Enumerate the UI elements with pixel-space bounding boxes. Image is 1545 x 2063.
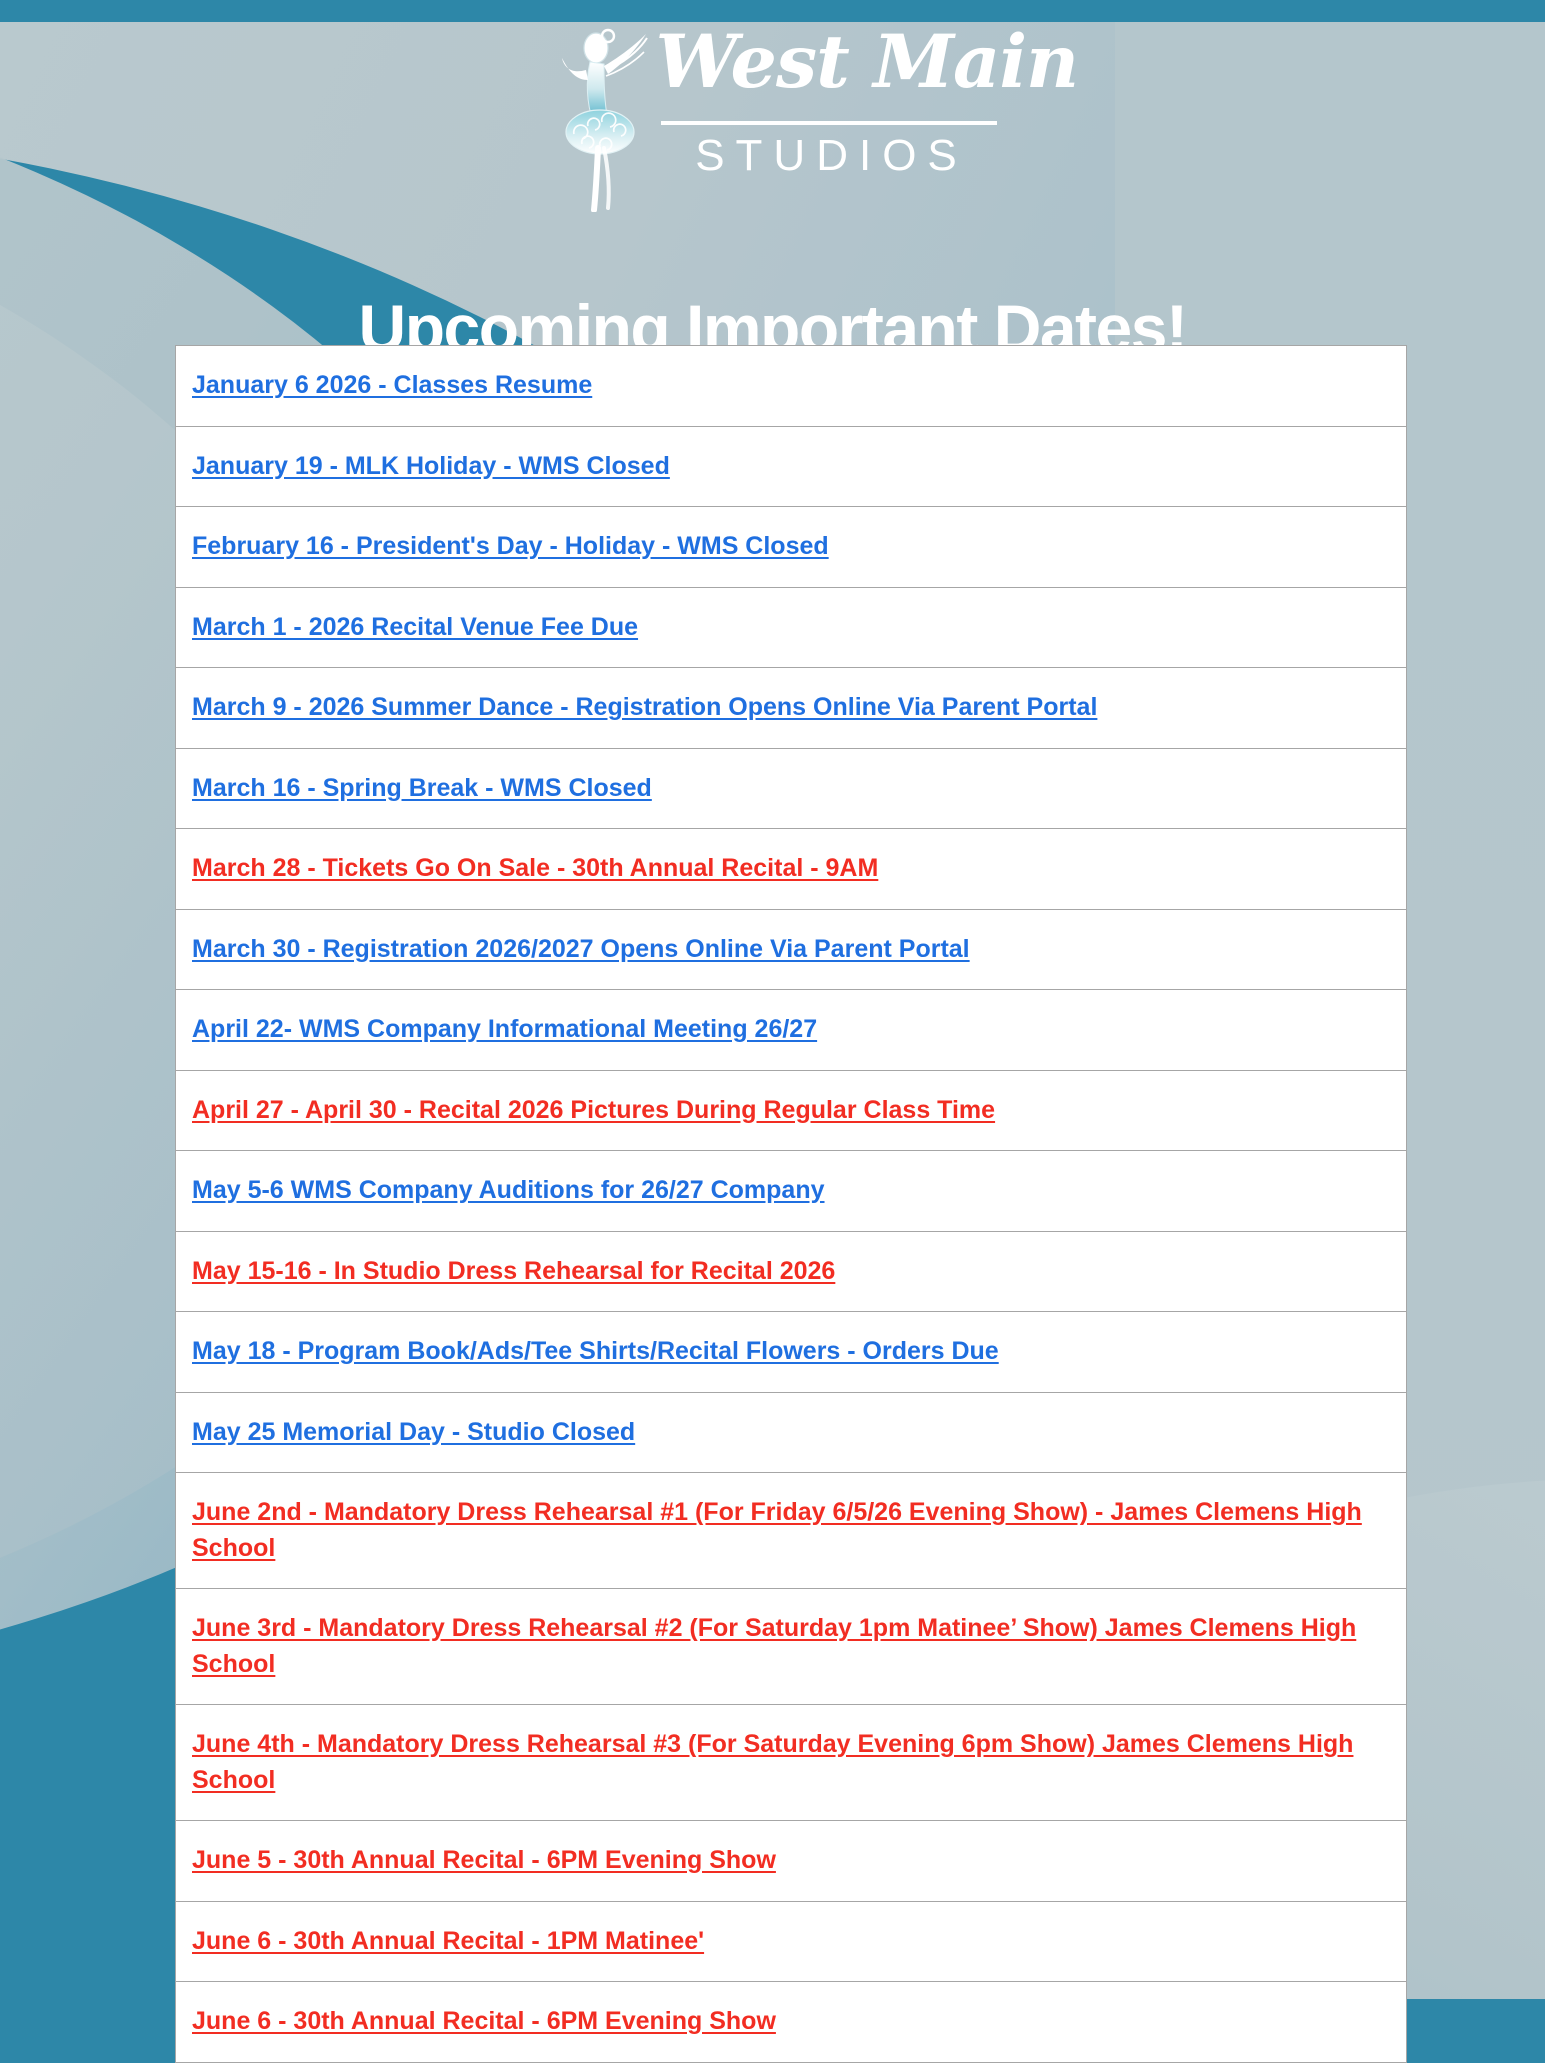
table-row: April 22- WMS Company Informational Meet… (176, 990, 1406, 1071)
date-link[interactable]: March 30 - Registration 2026/2027 Opens … (192, 935, 970, 963)
table-row: May 25 Memorial Day - Studio Closed (176, 1393, 1406, 1474)
date-link[interactable]: June 6 - 30th Annual Recital - 1PM Matin… (192, 1927, 704, 1955)
table-row: June 6 - 30th Annual Recital - 6PM Eveni… (176, 1982, 1406, 2062)
table-row: March 28 - Tickets Go On Sale - 30th Ann… (176, 829, 1406, 910)
date-link[interactable]: March 16 - Spring Break - WMS Closed (192, 774, 652, 802)
logo-inner: West Main STUDIOS (538, 14, 1008, 209)
table-row: March 9 - 2026 Summer Dance - Registrati… (176, 668, 1406, 749)
date-link[interactable]: May 5-6 WMS Company Auditions for 26/27 … (192, 1176, 825, 1204)
ballerina-dancer-icon (548, 22, 660, 212)
table-row: March 16 - Spring Break - WMS Closed (176, 749, 1406, 830)
date-link[interactable]: May 15-16 - In Studio Dress Rehearsal fo… (192, 1257, 835, 1285)
table-row: June 5 - 30th Annual Recital - 6PM Eveni… (176, 1821, 1406, 1902)
table-row: June 3rd - Mandatory Dress Rehearsal #2 … (176, 1589, 1406, 1705)
date-link[interactable]: January 19 - MLK Holiday - WMS Closed (192, 452, 670, 480)
table-row: June 4th - Mandatory Dress Rehearsal #3 … (176, 1705, 1406, 1821)
logo-divider-rule (661, 121, 997, 125)
table-row: January 6 2026 - Classes Resume (176, 346, 1406, 427)
table-row: April 27 - April 30 - Recital 2026 Pictu… (176, 1071, 1406, 1152)
table-row: May 15-16 - In Studio Dress Rehearsal fo… (176, 1232, 1406, 1313)
date-link[interactable]: May 25 Memorial Day - Studio Closed (192, 1418, 635, 1446)
table-row: June 2nd - Mandatory Dress Rehearsal #1 … (176, 1473, 1406, 1589)
date-link[interactable]: June 3rd - Mandatory Dress Rehearsal #2 … (192, 1614, 1356, 1678)
date-link[interactable]: May 18 - Program Book/Ads/Tee Shirts/Rec… (192, 1337, 999, 1365)
table-row: March 1 - 2026 Recital Venue Fee Due (176, 588, 1406, 669)
logo-wordmark: West Main STUDIOS (656, 24, 1006, 209)
table-row: June 6 - 30th Annual Recital - 1PM Matin… (176, 1902, 1406, 1983)
logo-script-text: West Main (656, 26, 1006, 99)
date-link[interactable]: February 16 - President's Day - Holiday … (192, 532, 829, 560)
studio-logo: West Main STUDIOS (0, 14, 1545, 209)
date-link[interactable]: June 5 - 30th Annual Recital - 6PM Eveni… (192, 1846, 776, 1874)
table-row: March 30 - Registration 2026/2027 Opens … (176, 910, 1406, 991)
date-link[interactable]: March 9 - 2026 Summer Dance - Registrati… (192, 693, 1097, 721)
table-row: February 16 - President's Day - Holiday … (176, 507, 1406, 588)
table-row: May 5-6 WMS Company Auditions for 26/27 … (176, 1151, 1406, 1232)
date-link[interactable]: April 27 - April 30 - Recital 2026 Pictu… (192, 1096, 995, 1124)
date-link[interactable]: March 28 - Tickets Go On Sale - 30th Ann… (192, 854, 878, 882)
flyer-page: West Main STUDIOS Upcoming Important Dat… (0, 0, 1545, 1999)
date-link[interactable]: March 1 - 2026 Recital Venue Fee Due (192, 613, 638, 641)
date-link[interactable]: January 6 2026 - Classes Resume (192, 371, 592, 399)
date-link[interactable]: April 22- WMS Company Informational Meet… (192, 1015, 817, 1043)
table-row: January 19 - MLK Holiday - WMS Closed (176, 427, 1406, 508)
date-link[interactable]: June 4th - Mandatory Dress Rehearsal #3 … (192, 1730, 1353, 1794)
logo-studios-text: STUDIOS (664, 134, 1000, 178)
date-link[interactable]: June 6 - 30th Annual Recital - 6PM Eveni… (192, 2007, 776, 2035)
date-link[interactable]: June 2nd - Mandatory Dress Rehearsal #1 … (192, 1498, 1362, 1562)
important-dates-table: January 6 2026 - Classes ResumeJanuary 1… (175, 345, 1407, 2063)
table-row: May 18 - Program Book/Ads/Tee Shirts/Rec… (176, 1312, 1406, 1393)
